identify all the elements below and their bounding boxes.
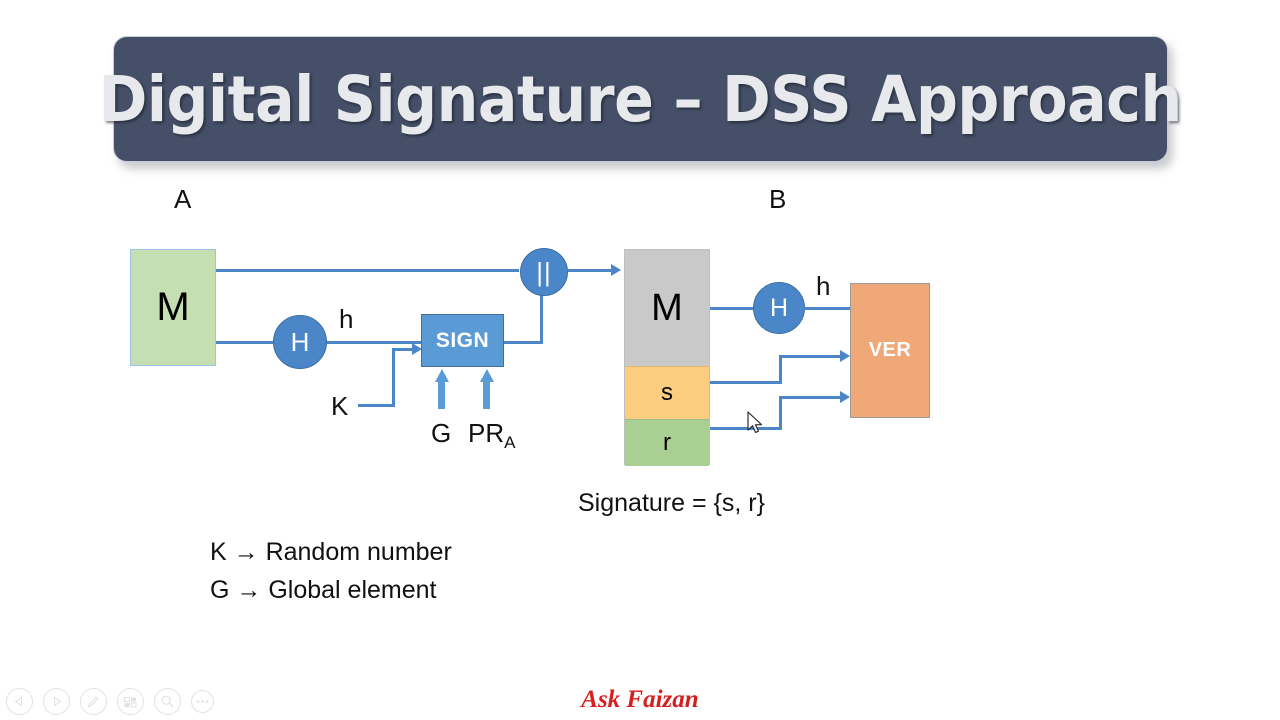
- connector-message-to-hash: [216, 341, 275, 344]
- mouse-cursor: [747, 411, 765, 437]
- connector-sign-to-concat: [540, 294, 543, 344]
- receiver-label: B: [769, 186, 786, 212]
- received-r-label: r: [663, 429, 671, 457]
- connector-hash-to-sign: [326, 341, 421, 344]
- sender-hash-circle: H: [273, 315, 327, 369]
- private-key-subscript: A: [504, 433, 515, 452]
- private-key-input-label: PRA: [468, 420, 515, 451]
- received-s-cell: s: [625, 366, 709, 419]
- next-slide-button[interactable]: [43, 688, 70, 715]
- private-key-text: PR: [468, 418, 504, 448]
- sign-box: SIGN: [421, 314, 504, 367]
- sign-box-label: SIGN: [436, 329, 489, 353]
- connector-k-vertical: [392, 348, 395, 407]
- connector-k-horizontal: [358, 404, 395, 407]
- slide-title-banner: Digital Signature – DSS Approach: [113, 36, 1168, 162]
- arrowhead-s-into-verify: [840, 350, 850, 362]
- connector-message-to-concat: [216, 269, 519, 272]
- pen-icon: [86, 694, 101, 709]
- zoom-in-button[interactable]: [154, 688, 181, 715]
- receiver-hash-circle: H: [753, 282, 805, 334]
- arrowhead-r-into-verify: [840, 391, 850, 403]
- legend-global-element: G → Global element: [210, 578, 437, 603]
- connector-r-horizontal: [710, 427, 782, 430]
- connector-r-vertical: [779, 396, 782, 430]
- verify-box: VER: [850, 283, 930, 418]
- received-r-cell: r: [625, 419, 709, 466]
- receiver-hash-output-label: h: [816, 273, 830, 299]
- connector-s-vertical: [779, 355, 782, 384]
- previous-slide-button[interactable]: [6, 688, 33, 715]
- sender-hash-output-label: h: [339, 306, 353, 332]
- presenter-toolbar: [6, 688, 214, 715]
- global-element-input-label: G: [431, 420, 451, 446]
- magnifier-icon: [160, 694, 175, 709]
- legend-random-number: K → Random number: [210, 540, 452, 565]
- sender-message-label: M: [156, 285, 189, 330]
- received-message-cell: M: [625, 250, 709, 366]
- triangle-right-icon: [51, 696, 62, 707]
- random-number-input-label: K: [331, 393, 348, 419]
- connector-hash-to-verify: [804, 307, 852, 310]
- connector-received-message-to-hash: [710, 307, 755, 310]
- triangle-left-icon: [14, 696, 25, 707]
- grid-icon: [123, 695, 138, 709]
- signature-caption: Signature = {s, r}: [578, 491, 765, 516]
- connector-s-horizontal: [710, 381, 782, 384]
- slide-canvas: Digital Signature – DSS Approach A B M H…: [0, 0, 1280, 720]
- received-message-label: M: [651, 287, 683, 330]
- sender-hash-label: H: [291, 327, 310, 358]
- ellipsis-icon: [195, 699, 210, 704]
- connector-sign-output: [504, 341, 543, 344]
- arrowhead-concat-to-stack: [611, 264, 621, 276]
- sender-label: A: [174, 186, 191, 212]
- cursor-arrow-icon: [747, 411, 765, 437]
- pen-tools-button[interactable]: [80, 688, 107, 715]
- all-slides-button[interactable]: [117, 688, 144, 715]
- page-title: Digital Signature – DSS Approach: [99, 63, 1182, 136]
- connector-s-into-verify: [779, 355, 843, 358]
- receiver-hash-label: H: [770, 294, 788, 323]
- connector-r-into-verify: [779, 396, 843, 399]
- verify-box-label: VER: [869, 339, 912, 362]
- received-s-label: s: [661, 379, 673, 407]
- sender-message-box: M: [130, 249, 216, 366]
- concat-label: ||: [536, 257, 552, 288]
- received-packet-stack: M s r: [624, 249, 710, 465]
- connector-concat-to-stack: [568, 269, 612, 272]
- concat-circle: ||: [520, 248, 568, 296]
- more-options-button[interactable]: [191, 690, 214, 713]
